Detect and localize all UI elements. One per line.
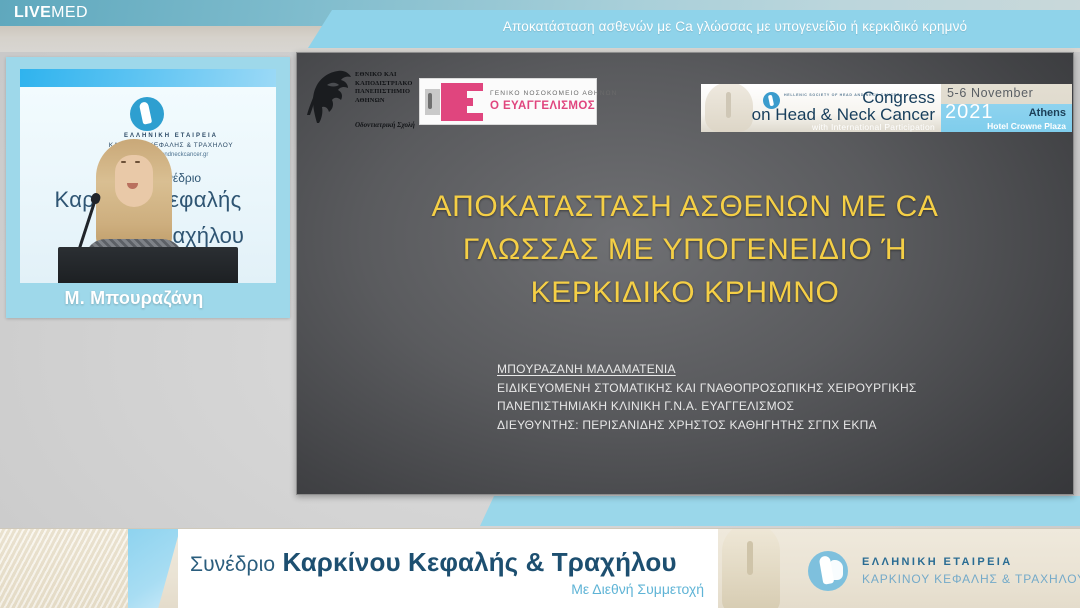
video-top-accent xyxy=(20,69,276,87)
livemed-logo[interactable]: LIVEMED xyxy=(14,4,88,22)
congress-line-3: with International Participation xyxy=(812,122,935,132)
slide-body-line-4: ΔΙΕΥΘΥΝΤΗΣ: ΠΕΡΙΣΑΝΙΔΗΣ ΧΡΗΣΤΟΣ ΚΑΘΗΓΗΤΗ… xyxy=(497,416,917,435)
podium-laptop xyxy=(58,247,238,283)
header-title-bar: Αποκατάσταση ασθενών με Ca γλώσσας με υπ… xyxy=(308,10,1080,48)
speaker-eye-right xyxy=(135,161,140,163)
backdrop-society-logo-icon xyxy=(130,97,164,131)
presentation-slide[interactable]: ΕΘΝΙΚΟ ΚΑΙ ΚΑΠΟΔΙΣΤΡΙΑΚΟ ΠΑΝΕΠΙΣΤΗΜΙΟ ΑΘ… xyxy=(296,52,1074,495)
footer-society-line1: ΕΛΛΗΝΙΚΗ ΕΤΑΙΡΕΙΑ xyxy=(862,556,1013,568)
congress-banner-left: HELLENIC SOCIETY OF HEAD AND NECK CANCER… xyxy=(701,84,941,132)
congress-city: Athens xyxy=(1029,107,1066,119)
hospital-e-mark-icon xyxy=(425,83,483,121)
livemed-logo-bold: LIVE xyxy=(14,4,51,21)
footer-blue-wedge xyxy=(128,529,180,608)
slide-title-line-2: ΓΛΩΣΣΑΣ ΜΕ ΥΠΟΓΕΝΕΙΔΙΟ Ή xyxy=(337,228,1033,271)
footer-society-line2: ΚΑΡΚΙΝΟΥ ΚΕΦΑΛΗΣ & ΤΡΑΧΗΛΟΥ xyxy=(862,572,1080,586)
slide-title-line-1: ΑΠΟΚΑΤΑΣΤΑΣΗ ΑΣΘΕΝΩΝ ΜΕ CA xyxy=(337,185,1033,228)
congress-banner-right: 5-6 November 2021 Athens Hotel Crowne Pl… xyxy=(941,84,1072,132)
congress-dates: 5-6 November xyxy=(947,86,1033,100)
hospital-logo: ΓΕΝΙΚΟ ΝΟΣΟΚΟΜΕΙΟ ΑΘΗΝΩΝ Ο ΕΥΑΓΓΕΛΙΣΜΟΣ xyxy=(419,78,597,125)
speaker-eye-left xyxy=(121,161,126,163)
header-title: Αποκατάσταση ασθενών με Ca γλώσσας με υπ… xyxy=(468,19,1002,34)
hospital-subtitle: ΓΕΝΙΚΟ ΝΟΣΟΚΟΜΕΙΟ ΑΘΗΝΩΝ xyxy=(490,90,592,97)
footer-statue-icon xyxy=(722,528,780,608)
footer-title: Συνέδριο Καρκίνου Κεφαλής & Τραχήλου xyxy=(190,547,710,578)
hospital-name: Ο ΕΥΑΓΓΕΛΙΣΜΟΣ xyxy=(490,100,592,112)
slide-title-line-3: ΚΕΡΚΙΔΙΚΟ ΚΡΗΜΝΟ xyxy=(337,271,1033,314)
footer-subtitle: Με Διεθνή Συμμετοχή xyxy=(190,581,710,597)
society-logo-icon xyxy=(808,551,848,591)
congress-face-icon xyxy=(705,84,753,132)
footer-texture xyxy=(0,529,150,608)
footer-title-main: Καρκίνου Κεφαλής & Τραχήλου xyxy=(282,547,676,577)
page-footer: Συνέδριο Καρκίνου Κεφαλής & Τραχήλου Με … xyxy=(0,528,1080,608)
athena-crest-icon xyxy=(307,65,355,127)
slide-body-author: ΜΠΟΥΡΑΖΑΝΗ ΜΑΛΑΜΑΤΕΝΙΑ xyxy=(497,360,917,379)
livemed-logo-light: MED xyxy=(51,4,88,21)
speaker-name-bar: Μ. Μπουραζάνη xyxy=(6,284,290,318)
speaker-video-feed[interactable]: ΕΛΛΗΝΙΚΗ ΕΤΑΙΡΕΙΑ ΚΑΡΚΙΝΟΥ ΚΕΦΑΛΗΣ & ΤΡΑ… xyxy=(20,87,276,283)
congress-venue: Hotel Crowne Plaza xyxy=(987,121,1066,131)
speaker-name: Μ. Μπουραζάνη xyxy=(6,288,262,309)
slide-body: ΜΠΟΥΡΑΖΑΝΗ ΜΑΛΑΜΑΤΕΝΙΑ ΕΙΔΙΚΕΥΟΜΕΝΗ ΣΤΟΜ… xyxy=(497,360,917,434)
slide-body-line-2: ΕΙΔΙΚΕΥΟΜΕΝΗ ΣΤΟΜΑΤΙΚΗΣ ΚΑΙ ΓΝΑΘΟΠΡΟΣΩΠΙ… xyxy=(497,379,917,398)
slide-title: ΑΠΟΚΑΤΑΣΤΑΣΗ ΑΣΘΕΝΩΝ ΜΕ CA ΓΛΩΣΣΑΣ ΜΕ ΥΠ… xyxy=(337,185,1033,314)
speaker-video-panel[interactable]: ΕΛΛΗΝΙΚΗ ΕΤΑΙΡΕΙΑ ΚΑΡΚΙΝΟΥ ΚΕΦΑΛΗΣ & ΤΡΑ… xyxy=(6,57,290,318)
slide-body-line-3: ΠΑΝΕΠΙΣΤΗΜΙΑΚΗ ΚΛΙΝΙΚΗ Γ.Ν.Α. ΕΥΑΓΓΕΛΙΣΜ… xyxy=(497,397,917,416)
footer-title-prefix: Συνέδριο xyxy=(190,553,275,576)
lower-blue-band xyxy=(480,496,1080,526)
society-logo-face xyxy=(830,560,843,580)
congress-banner: HELLENIC SOCIETY OF HEAD AND NECK CANCER… xyxy=(701,84,1072,132)
university-school: Οδοντιατρική Σχολή xyxy=(355,121,415,129)
